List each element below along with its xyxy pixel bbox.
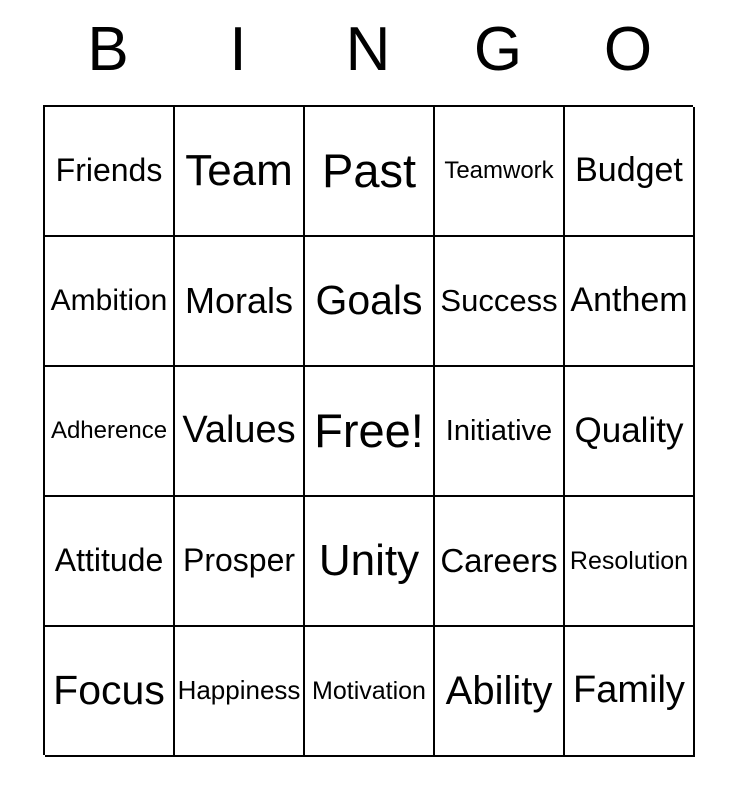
bingo-cell-label: Focus	[53, 669, 165, 712]
bingo-cell[interactable]: Morals	[175, 237, 305, 367]
bingo-cell[interactable]: Friends	[45, 107, 175, 237]
bingo-cell[interactable]: Prosper	[175, 497, 305, 627]
bingo-cell[interactable]: Goals	[305, 237, 435, 367]
bingo-cell-label: Free!	[314, 406, 424, 455]
bingo-cell-label: Family	[573, 671, 685, 711]
bingo-cell-label: Careers	[440, 544, 557, 579]
bingo-cell-label: Goals	[315, 279, 422, 322]
bingo-cell-label: Prosper	[183, 544, 295, 578]
bingo-cell[interactable]: Values	[175, 367, 305, 497]
bingo-cell-label: Morals	[185, 282, 293, 320]
bingo-cell[interactable]: Success	[435, 237, 565, 367]
bingo-cell[interactable]: Resolution	[565, 497, 695, 627]
bingo-cell[interactable]: Teamwork	[435, 107, 565, 237]
bingo-cell[interactable]: Budget	[565, 107, 695, 237]
bingo-cell-label: Adherence	[51, 418, 167, 443]
bingo-header-letter-n: N	[303, 19, 433, 87]
bingo-cell[interactable]: Anthem	[565, 237, 695, 367]
bingo-cell[interactable]: Quality	[565, 367, 695, 497]
bingo-cell-label: Budget	[575, 153, 683, 189]
bingo-cell-label: Values	[182, 411, 295, 451]
bingo-cell[interactable]: Free!	[305, 367, 435, 497]
bingo-cell[interactable]: Team	[175, 107, 305, 237]
bingo-cell[interactable]: Family	[565, 627, 695, 757]
bingo-cell[interactable]: Focus	[45, 627, 175, 757]
bingo-cell-label: Ability	[446, 670, 553, 712]
bingo-cell[interactable]: Past	[305, 107, 435, 237]
bingo-cell-label: Resolution	[570, 548, 688, 574]
bingo-header-letter-i: I	[173, 19, 303, 87]
bingo-cell-label: Unity	[319, 538, 419, 584]
bingo-cell-label: Ambition	[51, 285, 168, 317]
bingo-cell[interactable]: Happiness	[175, 627, 305, 757]
bingo-header-letter-o: O	[563, 19, 693, 87]
bingo-cell-label: Happiness	[178, 677, 301, 704]
bingo-grid: FriendsTeamPastTeamworkBudgetAmbitionMor…	[43, 105, 693, 755]
bingo-cell[interactable]: Ability	[435, 627, 565, 757]
bingo-cell[interactable]: Adherence	[45, 367, 175, 497]
bingo-header-letter-g: G	[433, 19, 563, 87]
bingo-cell-label: Past	[322, 146, 416, 195]
bingo-cell-label: Success	[440, 285, 557, 318]
bingo-cell[interactable]: Initiative	[435, 367, 565, 497]
bingo-cell-label: Teamwork	[444, 158, 553, 183]
bingo-header-letter-b: B	[43, 19, 173, 87]
bingo-cell[interactable]: Ambition	[45, 237, 175, 367]
bingo-cell-label: Friends	[56, 154, 163, 188]
bingo-cell[interactable]: Careers	[435, 497, 565, 627]
bingo-cell-label: Initiative	[446, 416, 552, 446]
bingo-cell[interactable]: Motivation	[305, 627, 435, 757]
bingo-cell[interactable]: Unity	[305, 497, 435, 627]
bingo-cell[interactable]: Attitude	[45, 497, 175, 627]
bingo-cell-label: Team	[185, 148, 293, 194]
bingo-card: B I N G O FriendsTeamPastTeamworkBudgetA…	[43, 0, 693, 755]
bingo-cell-label: Quality	[575, 413, 684, 450]
bingo-cell-label: Motivation	[312, 678, 426, 704]
bingo-cell-label: Attitude	[55, 544, 164, 578]
bingo-cell-label: Anthem	[570, 283, 687, 319]
bingo-header-row: B I N G O	[43, 0, 693, 105]
